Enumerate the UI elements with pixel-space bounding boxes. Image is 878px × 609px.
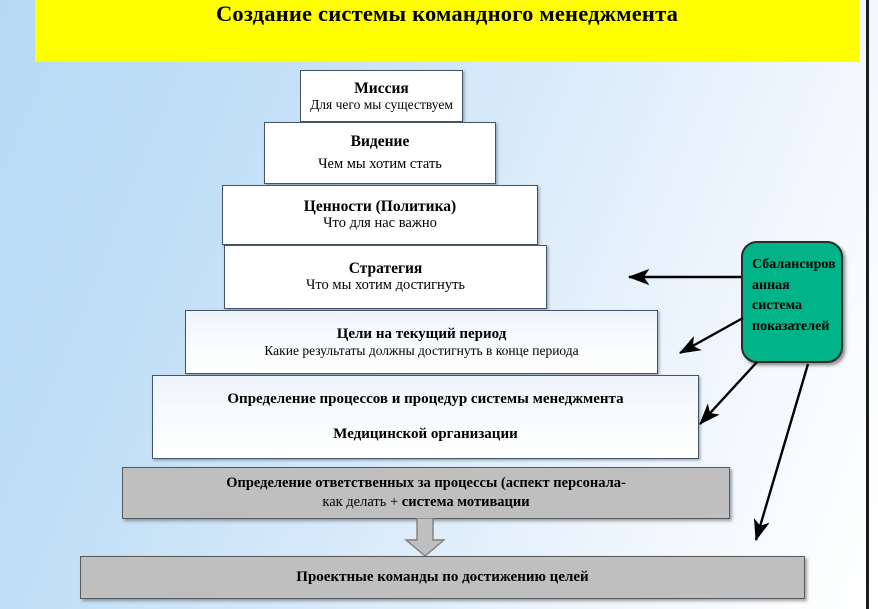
connector-arrow-to-processes: [700, 362, 757, 424]
responsibility-line-1-text: Определение ответственных за процессы (а…: [226, 475, 626, 491]
pyramid-layer-values[interactable]: Ценности (Политика) Что для нас важно: [222, 185, 538, 245]
pyramid-layer-subtitle: Чем мы хотим стать: [318, 156, 442, 173]
balanced-scorecard-line-1: Сбалансиров: [752, 255, 841, 276]
pyramid-layer-subtitle: Медицинской организации: [333, 426, 517, 443]
pyramid-layer-processes-procedures[interactable]: Определение процессов и процедур системы…: [152, 375, 699, 459]
project-teams-label: Проектные команды по достижению целей: [296, 569, 588, 586]
responsibility-line-2-plain: как делать +: [322, 494, 401, 510]
balanced-scorecard-line-4: показателей: [752, 317, 841, 338]
pyramid-layer-subtitle: Что мы хотим достигнуть: [306, 277, 465, 294]
pyramid-layer-heading: Определение процессов и процедур системы…: [227, 391, 623, 408]
project-teams-box[interactable]: Проектные команды по достижению целей: [80, 556, 805, 599]
pyramid-layer-mission[interactable]: Миссия Для чего мы существуем: [300, 70, 463, 122]
pyramid-layer-heading: Видение: [351, 133, 410, 150]
pyramid-layer-heading: Цели на текущий период: [337, 326, 507, 343]
pyramid-layer-subtitle: Для чего мы существуем: [310, 97, 453, 113]
connector-arrow-to-project-teams: [756, 364, 808, 540]
slide-title-banner: Создание системы командного менеджмента: [35, 0, 859, 62]
pyramid-layer-subtitle: Что для нас важно: [323, 215, 437, 232]
pyramid-layer-current-period-goals[interactable]: Цели на текущий период Какие результаты …: [185, 310, 658, 374]
balanced-scorecard-line-3: система: [752, 296, 841, 317]
responsibility-line-2: как делать + система мотивации: [322, 494, 529, 511]
pyramid-layer-heading: Миссия: [354, 80, 409, 97]
connector-arrow-to-goals: [680, 318, 743, 353]
down-arrow-icon: [404, 518, 446, 558]
responsibility-line-1: Определение ответственных за процессы (а…: [226, 475, 626, 492]
pyramid-layer-strategy[interactable]: Стратегия Что мы хотим достигнуть: [224, 245, 547, 309]
responsibility-definition-box[interactable]: Определение ответственных за процессы (а…: [122, 467, 730, 519]
pyramid-layer-vision[interactable]: Видение Чем мы хотим стать: [264, 122, 496, 184]
pyramid-layer-subtitle: Какие результаты должны достигнуть в кон…: [264, 343, 578, 359]
balanced-scorecard-line-2: анная: [752, 276, 841, 297]
page-title: Создание системы командного менеджмента: [35, 1, 859, 27]
pyramid-layer-heading: Стратегия: [349, 260, 423, 277]
balanced-scorecard-card[interactable]: Сбалансиров анная система показателей: [741, 241, 843, 363]
slide-right-border: [866, 0, 869, 609]
responsibility-line-2-bold: система мотивации: [402, 494, 530, 510]
pyramid-layer-heading: Ценности (Политика): [304, 198, 456, 215]
slide-canvas: Создание системы командного менеджмента …: [0, 0, 878, 609]
